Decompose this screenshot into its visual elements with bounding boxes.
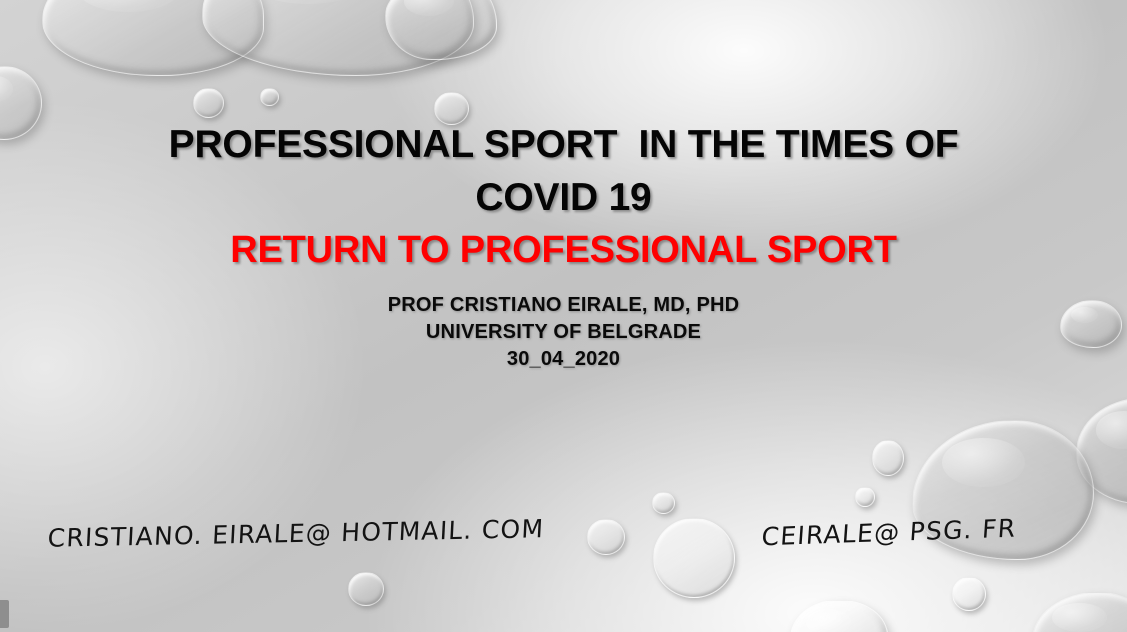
droplet-bottom-right-corner bbox=[790, 600, 888, 632]
droplet-bottom-far-right bbox=[1032, 592, 1127, 632]
subtitle-institution: UNIVERSITY OF BELGRADE bbox=[0, 319, 1127, 346]
slide-title: PROFESSIONAL SPORT IN THE TIMES OF COVID… bbox=[0, 118, 1127, 276]
droplet-bottom-center-small bbox=[652, 492, 675, 514]
title-line-2: COVID 19 bbox=[0, 171, 1127, 224]
droplet-small-right-b bbox=[855, 487, 875, 507]
title-line-red: RETURN TO PROFESSIONAL SPORT bbox=[0, 224, 1127, 276]
slide-subtitle: PROF CRISTIANO EIRALE, MD, PHD UNIVERSIT… bbox=[0, 292, 1127, 373]
droplet-top-center-large bbox=[202, 0, 474, 76]
handwritten-email-left: CRISTIANO. EIRALE@ HOTMAIL. COM bbox=[47, 514, 545, 553]
corner-marker bbox=[0, 600, 9, 628]
droplet-bottom-center-mid bbox=[587, 519, 625, 555]
droplet-bottom-left bbox=[348, 572, 384, 606]
presentation-slide: PROFESSIONAL SPORT IN THE TIMES OF COVID… bbox=[0, 0, 1127, 632]
droplet-top-left-large bbox=[42, 0, 264, 76]
subtitle-author: PROF CRISTIANO EIRALE, MD, PHD bbox=[0, 292, 1127, 319]
droplet-right-mid-large bbox=[1076, 398, 1127, 504]
droplet-top-right-blob bbox=[385, 0, 497, 60]
droplet-bottom-center-large bbox=[653, 518, 735, 598]
droplet-small-right-a bbox=[872, 440, 904, 476]
droplet-small-top-a bbox=[193, 88, 224, 118]
subtitle-date: 30_04_2020 bbox=[0, 346, 1127, 373]
droplet-small-right-c bbox=[952, 577, 986, 611]
handwritten-email-right: CEIRALE@ PSG. FR bbox=[761, 514, 1018, 552]
title-line-1: PROFESSIONAL SPORT IN THE TIMES OF bbox=[0, 118, 1127, 171]
droplet-small-top-b bbox=[260, 88, 279, 106]
